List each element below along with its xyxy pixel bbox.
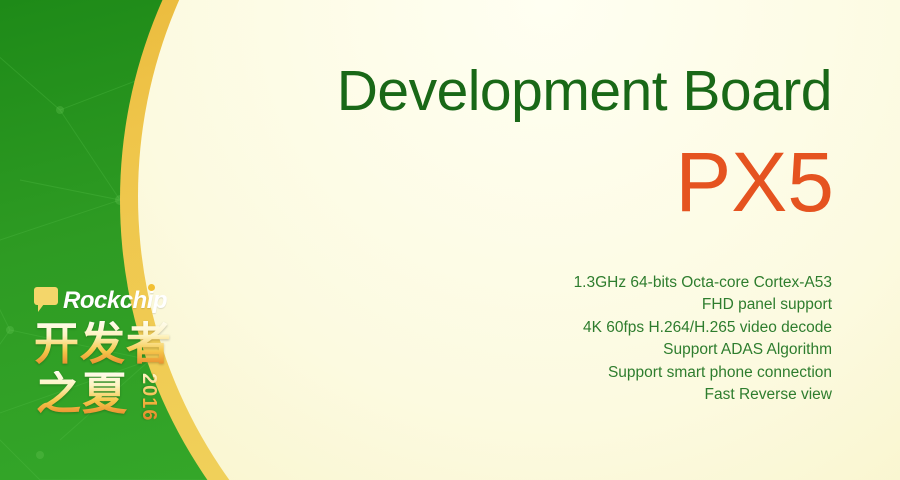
spec-item: Fast Reverse view xyxy=(332,384,832,406)
logo-dot-icon xyxy=(148,284,155,291)
presentation-slide: Development Board PX5 1.3GHz 64-bits Oct… xyxy=(0,0,900,480)
rockchip-wordmark: Rockchip xyxy=(63,289,167,313)
spec-item: Support ADAS Algorithm xyxy=(332,339,832,361)
event-name-line-2: 之夏 xyxy=(36,371,128,416)
spec-item: Support smart phone connection xyxy=(332,362,832,384)
spec-item: FHD panel support xyxy=(332,294,832,316)
event-logo-lockup: Rockchip 开发者 之夏 2016 xyxy=(34,283,204,443)
event-name-line-1: 开发者 xyxy=(34,321,172,366)
spec-item: 4K 60fps H.264/H.265 video decode xyxy=(332,317,832,339)
spec-list: 1.3GHz 64-bits Octa-core Cortex-A53 FHD … xyxy=(332,272,832,406)
event-name-chinese: 开发者 之夏 2016 xyxy=(34,321,204,441)
speech-bubble-icon xyxy=(34,287,58,305)
product-model-heading: PX5 xyxy=(194,140,834,224)
brand-row: Rockchip xyxy=(34,283,167,313)
event-year: 2016 xyxy=(137,373,160,422)
slide-content: Development Board PX5 1.3GHz 64-bits Oct… xyxy=(0,0,900,480)
page-title: Development Board xyxy=(192,62,832,120)
spec-item: 1.3GHz 64-bits Octa-core Cortex-A53 xyxy=(332,272,832,294)
rockchip-wordmark-text: Rockchip xyxy=(63,287,167,314)
